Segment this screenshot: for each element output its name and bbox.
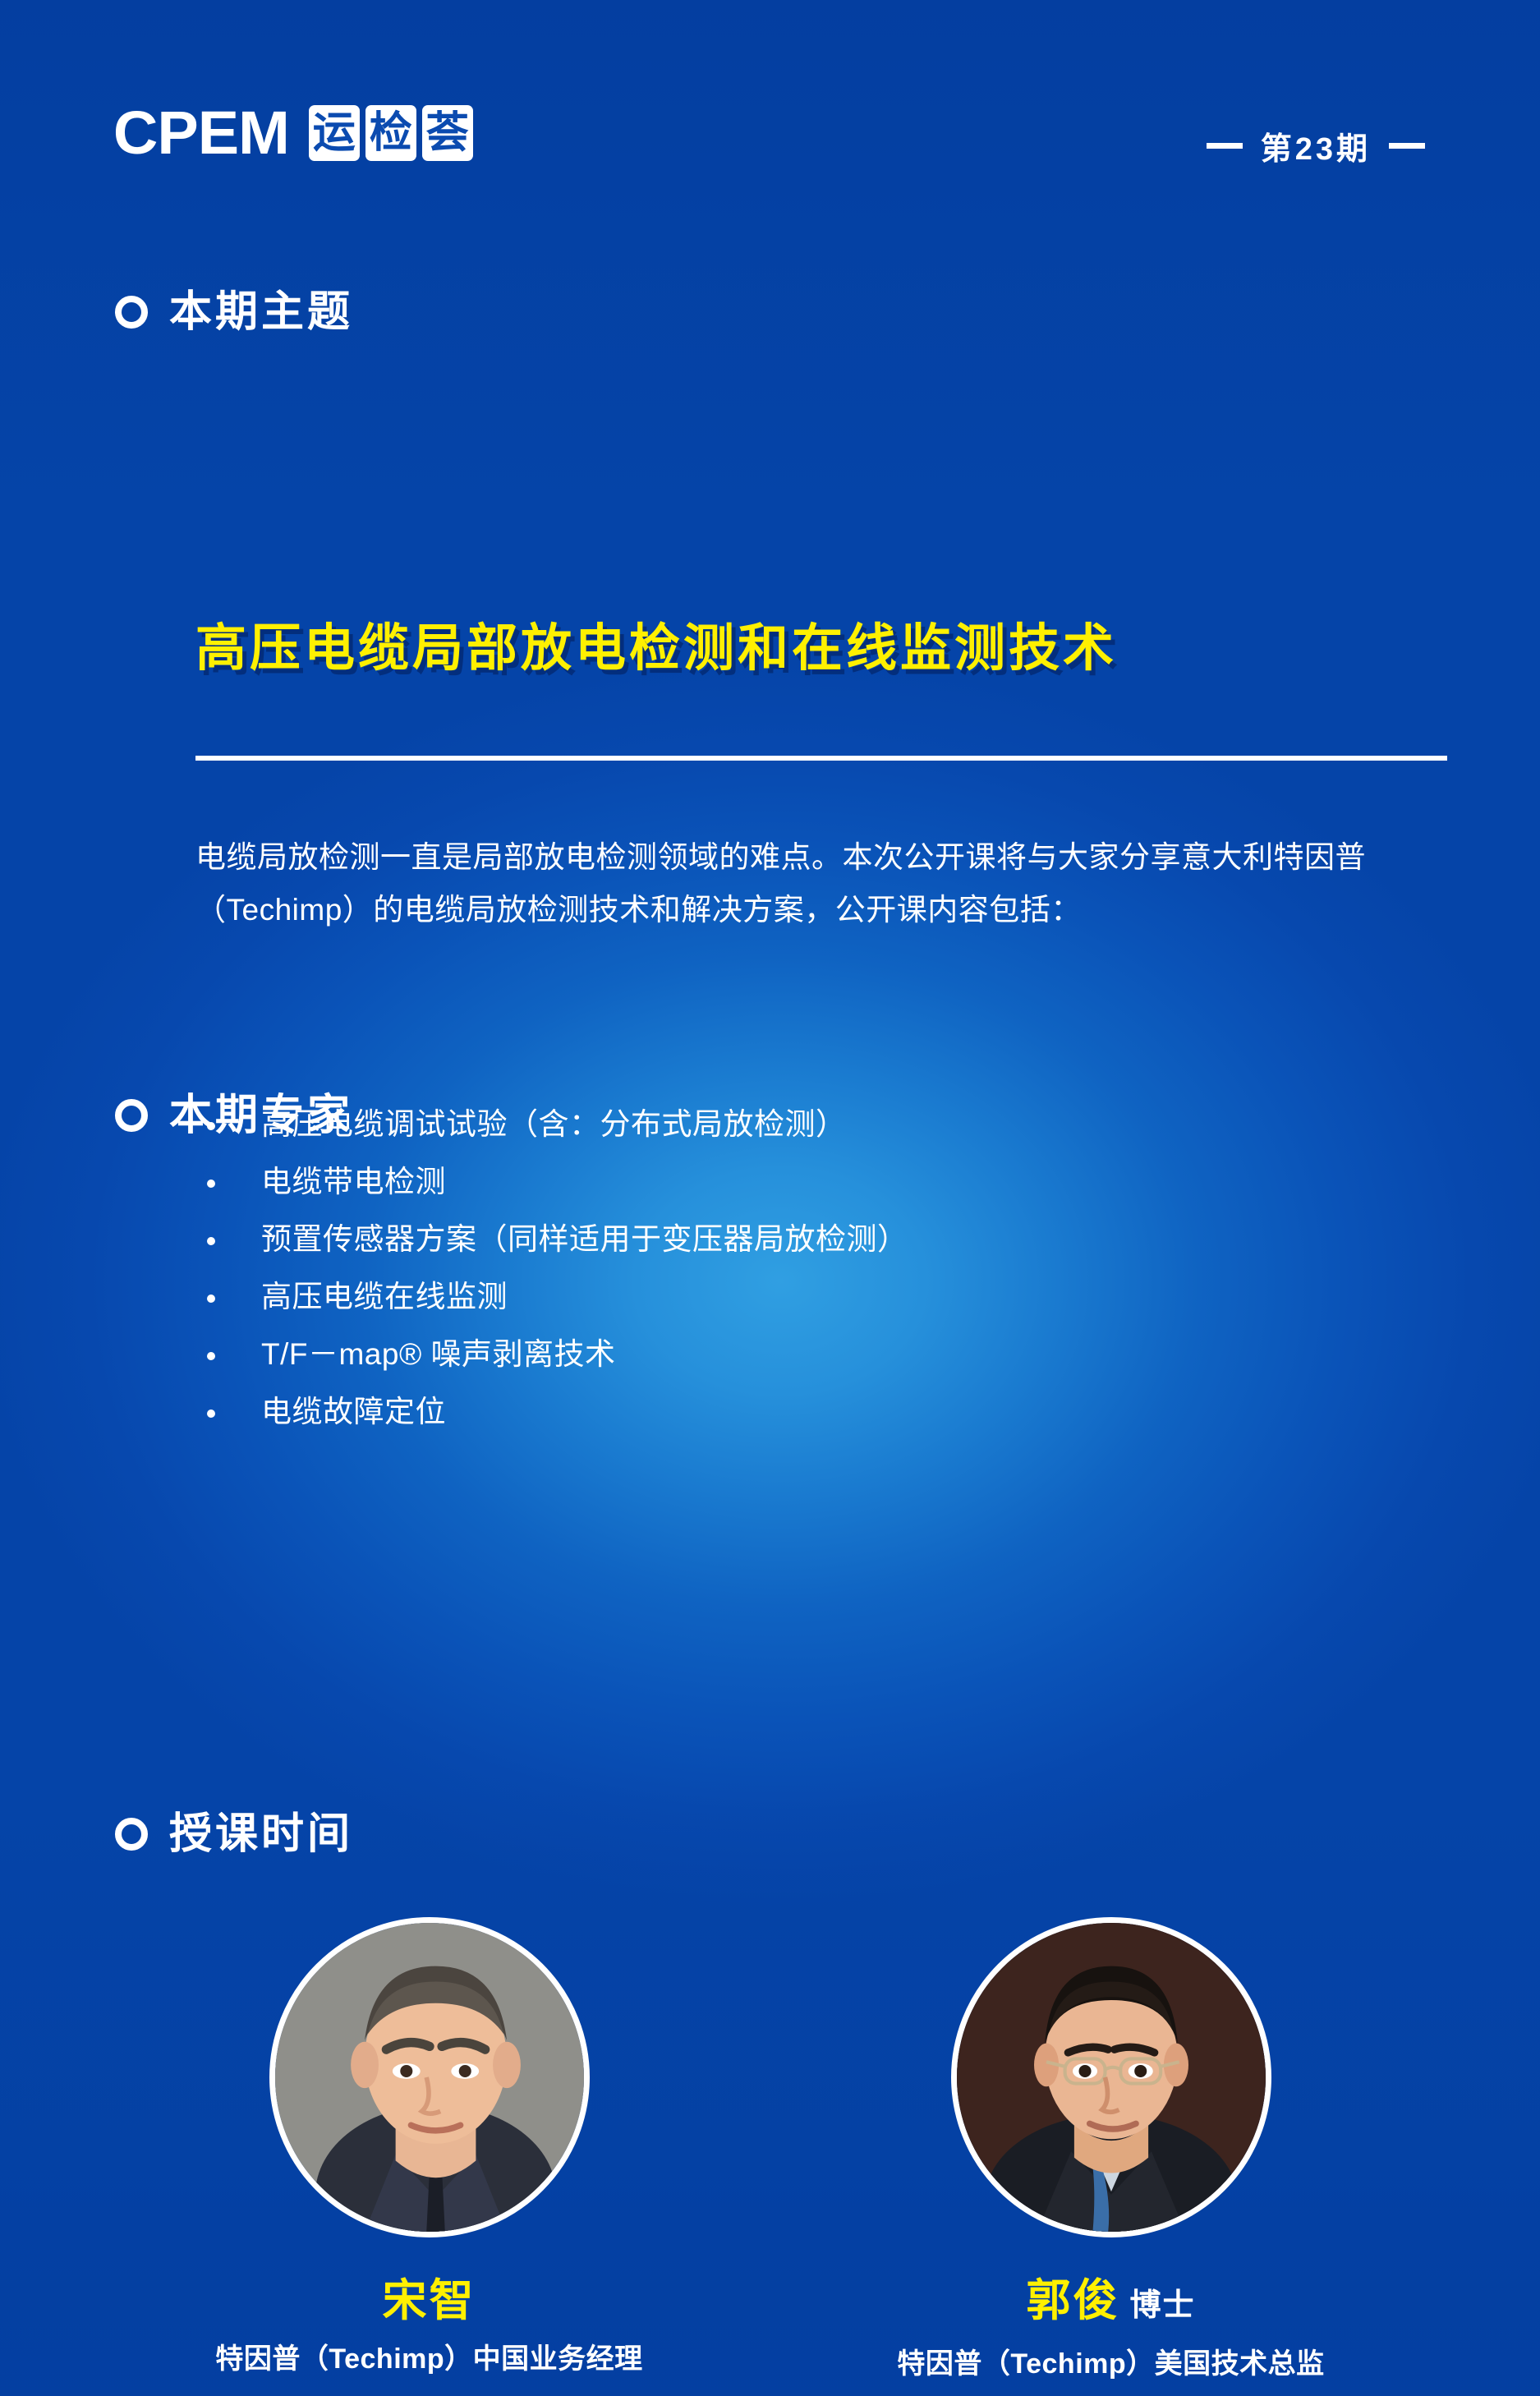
list-item: 高压电缆调试试验（含：分布式局放检测） (195, 1096, 1411, 1153)
stamp-char-1: 运 (309, 105, 360, 161)
expert-role: 特因普（Techimp）中国业务经理 (208, 2343, 651, 2375)
section-heading-time: 授课时间 (115, 1811, 353, 1857)
section-heading-expert: 本期专家 (115, 1092, 353, 1138)
expert-list: 宋智 特因普（Techimp）中国业务经理 (0, 1917, 1540, 2380)
section-title-time: 授课时间 (169, 1811, 353, 1857)
issue-number: 第23期 (1207, 123, 1425, 168)
list-item: 电缆带电检测 (195, 1153, 1411, 1211)
expert-name-text: 宋智 (383, 2276, 476, 2325)
expert-card: 宋智 特因普（Techimp）中国业务经理 (208, 1917, 651, 2380)
stamp-char-3: 荟 (422, 105, 473, 161)
title-underline (195, 756, 1447, 761)
stamp-char-2: 检 (365, 105, 416, 161)
list-item: T/F－map® 噪声剥离技术 (195, 1326, 1411, 1383)
issue-label: 第23期 (1261, 123, 1371, 168)
course-title: 高压电缆局部放电检测和在线监测技术 (195, 620, 1444, 678)
brand-logo: CPEM 运 检 荟 (115, 103, 473, 163)
expert-name: 宋智 (208, 2277, 651, 2325)
expert-name-text: 郭俊 (1026, 2276, 1119, 2325)
expert-name: 郭俊博士 (890, 2277, 1333, 2329)
avatar (269, 1917, 590, 2237)
brand-wordmark: CPEM (113, 103, 289, 163)
stamp-logo: 运 检 荟 (309, 105, 473, 161)
avatar (951, 1917, 1271, 2237)
section-title-topic: 本期主题 (169, 289, 353, 335)
expert-card: 郭俊博士 特因普（Techimp）美国技术总监 (890, 1917, 1333, 2380)
section-heading-topic: 本期主题 (115, 289, 353, 335)
poster-header: CPEM 运 检 荟 第23期 (0, 0, 1540, 205)
ring-bullet-icon (115, 1099, 148, 1132)
poster-root: CPEM 运 检 荟 第23期 本期主题 高压电缆局部放电检测和在线监测技术 电… (0, 0, 1540, 2396)
dash-right-icon (1389, 143, 1425, 149)
list-item: 高压电缆在线监测 (195, 1268, 1411, 1326)
list-item: 预置传感器方案（同样适用于变压器局放检测） (195, 1211, 1411, 1268)
dash-left-icon (1207, 143, 1243, 149)
section-title-expert: 本期专家 (169, 1092, 353, 1138)
expert-role: 特因普（Techimp）美国技术总监 (890, 2348, 1333, 2380)
ring-bullet-icon (115, 1818, 148, 1851)
course-description: 电缆局放检测一直是局部放电检测领域的难点。本次公开课将与大家分享意大利特因普（T… (195, 831, 1444, 936)
ring-bullet-icon (115, 296, 148, 329)
list-item: 电缆故障定位 (195, 1383, 1411, 1441)
course-outline-list: 高压电缆调试试验（含：分布式局放检测） 电缆带电检测 预置传感器方案（同样适用于… (195, 1096, 1411, 1441)
expert-degree: 博士 (1129, 2288, 1195, 2323)
